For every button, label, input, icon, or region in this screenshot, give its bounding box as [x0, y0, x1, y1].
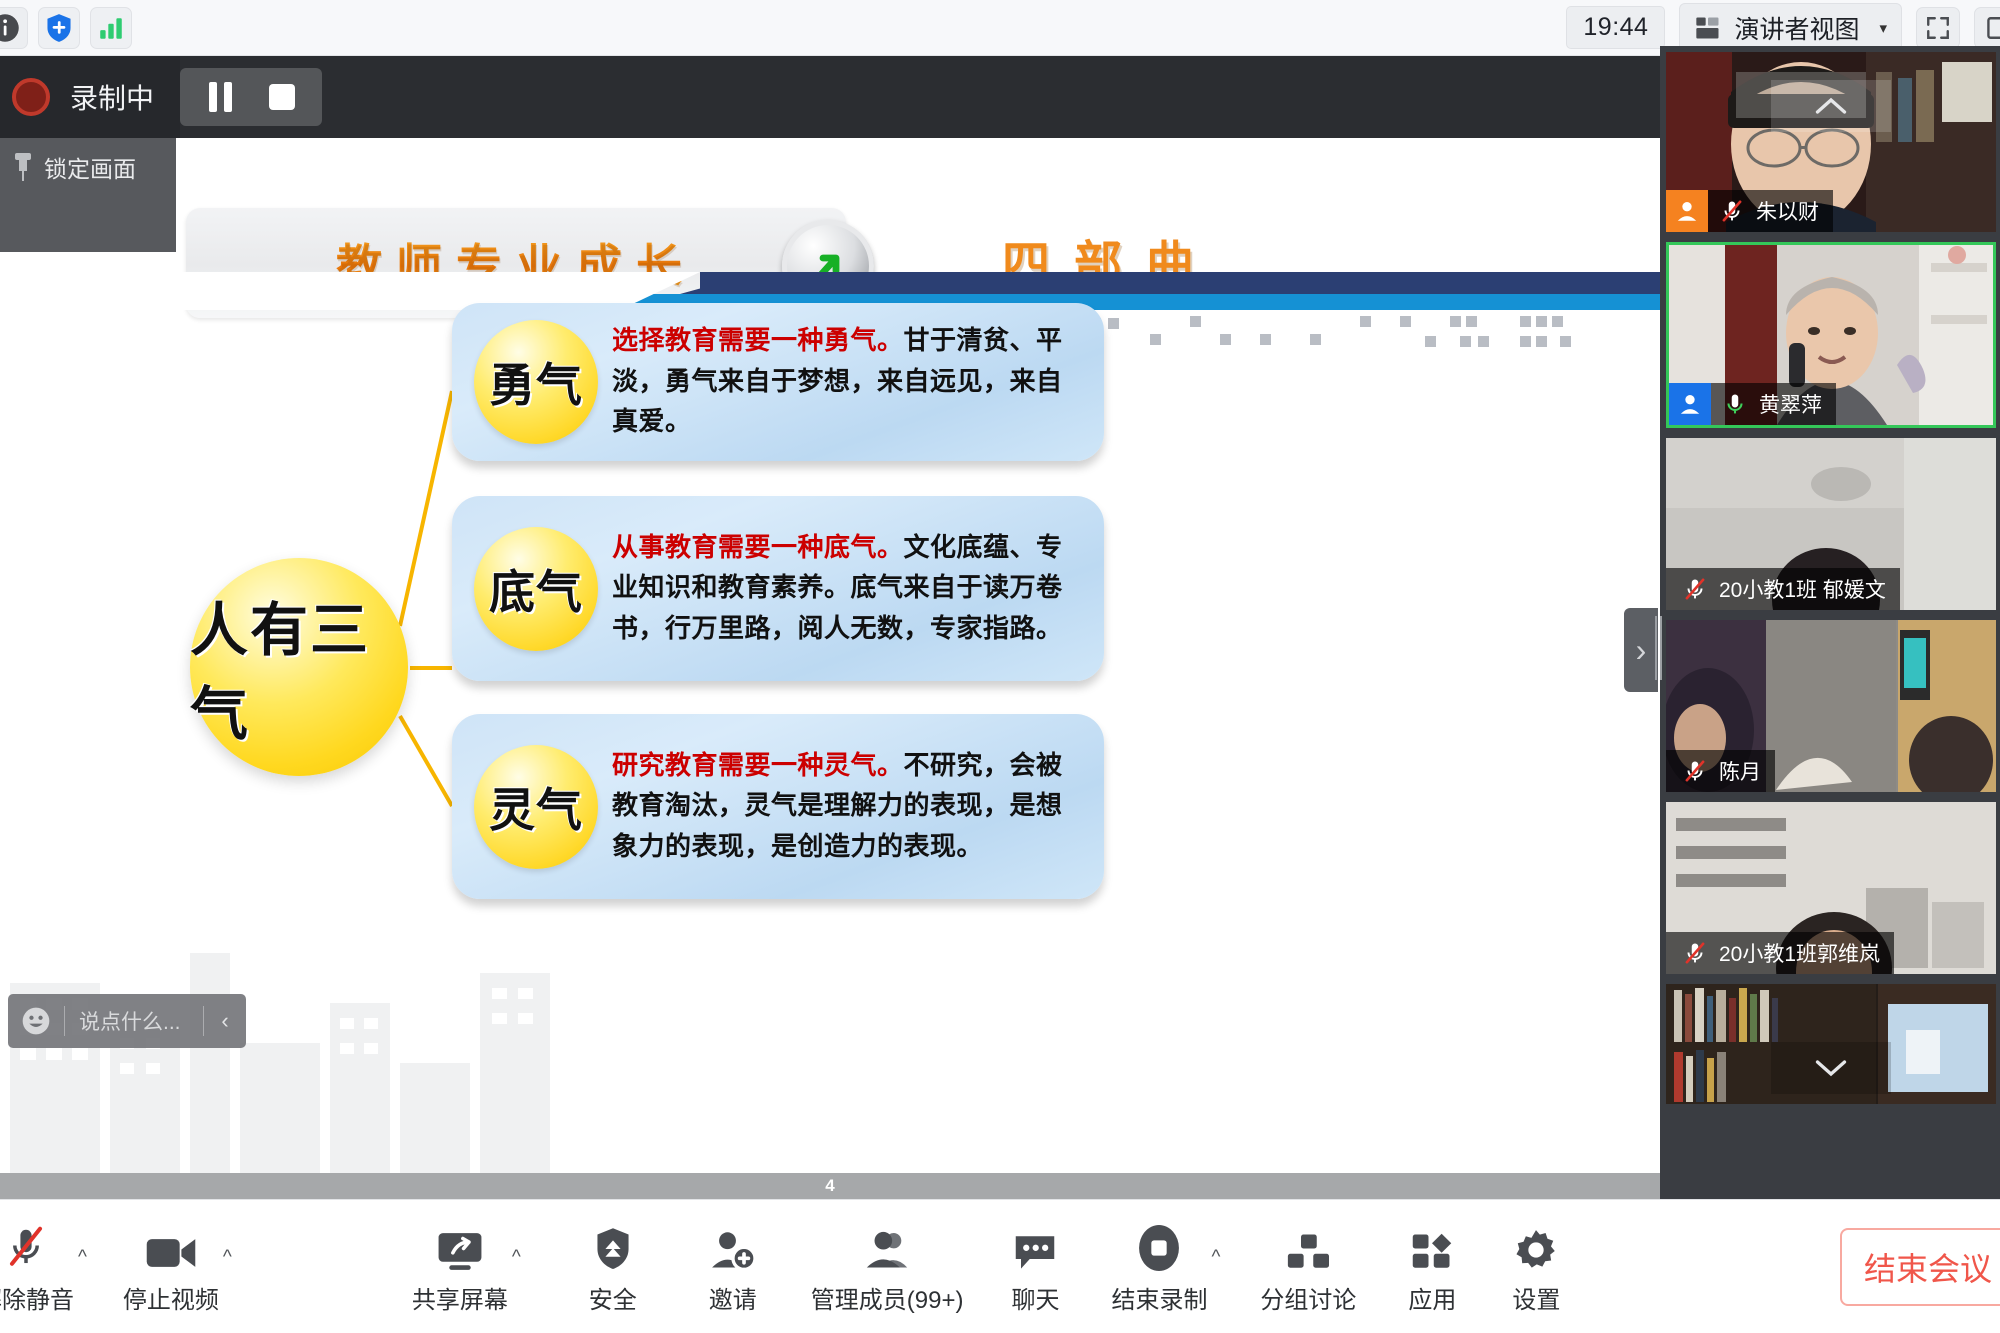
- participant-name: 20小教1班郭维岚: [1719, 938, 1880, 968]
- card-body: 研究教育需要一种灵气。不研究，会被教育淘汰，灵气是理解力的表现，是想象力的表现，…: [612, 746, 1080, 868]
- video-icon: [145, 1219, 197, 1273]
- video-options-chevron-up-icon[interactable]: ^: [223, 1247, 232, 1315]
- share-options-chevron-up-icon[interactable]: ^: [512, 1247, 521, 1315]
- core-circle-label: 人有三气: [190, 583, 408, 751]
- person-icon: [1674, 198, 1700, 224]
- core-circle: 人有三气: [190, 558, 408, 776]
- window-icon: [1983, 15, 2000, 41]
- chevron-down-icon: ▾: [1879, 19, 1887, 37]
- toolbar-label: 分组讨论: [1260, 1280, 1356, 1315]
- participant-tile[interactable]: 朱以财: [1666, 52, 1996, 232]
- toolbar-item-breakout[interactable]: 分组讨论: [1260, 1219, 1356, 1315]
- toolbar-item-chat[interactable]: 聊天: [1005, 1219, 1065, 1315]
- navy-band-right: [700, 272, 1660, 294]
- person-icon: [1677, 391, 1703, 417]
- card-badge-label: 灵气: [489, 774, 583, 840]
- fullscreen-icon: [1925, 15, 1951, 41]
- security-glyph: [594, 1225, 632, 1273]
- signal-bars-icon[interactable]: [90, 7, 132, 49]
- participants-icon: [863, 1219, 911, 1273]
- pin-icon: [14, 153, 32, 181]
- participant-name: 陈月: [1719, 756, 1761, 786]
- chevron-right-icon: ›: [1636, 634, 1647, 666]
- panel-collapse-button[interactable]: ›: [1624, 608, 1658, 692]
- end-meeting-button[interactable]: 结束会议: [1840, 1228, 2000, 1306]
- toolbar-item-apps[interactable]: 应用: [1402, 1219, 1462, 1315]
- card-badge: 灵气: [474, 745, 598, 869]
- invite-icon: [709, 1219, 757, 1273]
- lock-screen-label: 锁定画面: [44, 150, 136, 184]
- shared-slide: 教师专业成长 四部曲 人有三气: [0, 196, 1660, 1199]
- stop-icon: [269, 84, 295, 110]
- mic-muted-icon: [5, 1219, 47, 1273]
- slide-page-bar: 4: [0, 1173, 1660, 1199]
- participant-tile-partial[interactable]: [1666, 984, 1996, 1104]
- mic-muted-icon: [1680, 576, 1710, 602]
- toolbar-label: 邀请: [709, 1280, 757, 1315]
- stop-record-icon: [1136, 1219, 1182, 1273]
- toolbar-label: 安全: [589, 1280, 637, 1315]
- mic-active-glyph: [1722, 391, 1748, 417]
- content-card: 勇气 选择教育需要一种勇气。甘于清贫、平淡，勇气来自于梦想，来自远见，来自真爱。: [452, 303, 1104, 461]
- participant-name-badge: 20小教1班 郁媛文: [1666, 568, 1900, 610]
- toolbar-label: 应用: [1408, 1280, 1456, 1315]
- mic-muted-glyph: [1682, 758, 1708, 784]
- stop-recording-button[interactable]: [256, 68, 308, 126]
- view-mode-selector[interactable]: 演讲者视图 ▾: [1679, 3, 1902, 53]
- toolbar-item-settings[interactable]: 设置: [1506, 1219, 1566, 1315]
- toolbar-group-video: 停止视频 ^: [123, 1219, 232, 1315]
- pause-recording-button[interactable]: [194, 68, 246, 126]
- fullscreen-button[interactable]: [1916, 7, 1960, 49]
- toolbar-label: 停止视频: [123, 1280, 219, 1315]
- toolbar-item-invite[interactable]: 邀请: [703, 1219, 763, 1315]
- topbar-right-group: 19:44 演讲者视图 ▾: [1566, 3, 2000, 53]
- participant-name-badge: 朱以财: [1666, 190, 1833, 232]
- meeting-toolbar: 解除静音 ^ 停止视频 ^: [0, 1199, 2000, 1333]
- apps-icon: [1409, 1219, 1455, 1273]
- chat-input-bar[interactable]: 说点什么... ‹: [8, 994, 246, 1048]
- window-button[interactable]: [1974, 7, 2000, 49]
- lock-screen-button[interactable]: 锁定画面: [0, 138, 176, 196]
- toolbar-label: 共享屏幕: [412, 1280, 508, 1315]
- apps-glyph: [1409, 1231, 1455, 1273]
- clock-display: 19:44: [1566, 6, 1665, 49]
- chat-glyph: [1012, 1231, 1058, 1273]
- toolbar-item-security[interactable]: 安全: [583, 1219, 643, 1315]
- info-icon[interactable]: [0, 7, 28, 49]
- security-icon: [594, 1219, 632, 1273]
- toolbar-group-mute: 解除静音 ^: [0, 1219, 87, 1315]
- toolbar-item-stop-record[interactable]: 结束录制: [1111, 1219, 1207, 1315]
- settings-gear-glyph: [1513, 1227, 1559, 1273]
- mute-options-chevron-up-icon[interactable]: ^: [78, 1247, 87, 1315]
- invite-glyph: [709, 1229, 757, 1273]
- card-badge: 勇气: [474, 320, 598, 444]
- toolbar-label: 解除静音: [0, 1280, 74, 1315]
- participant-name: 黄翠萍: [1759, 389, 1822, 419]
- card-badge-label: 勇气: [489, 349, 583, 415]
- participant-name-badge: 黄翠萍: [1669, 383, 1836, 425]
- recording-status: 录制中: [0, 56, 180, 138]
- toolbar-item-stop-video[interactable]: 停止视频: [123, 1219, 219, 1315]
- card-body: 从事教育需要一种底气。文化底蕴、专业知识和教育素养。底气来自于读万卷书，行万里路…: [612, 528, 1080, 650]
- recording-controls: [180, 68, 322, 126]
- participant-tile[interactable]: 20小教1班 郁媛文: [1666, 438, 1996, 610]
- pause-icon: [209, 82, 232, 112]
- avatar: [1669, 383, 1711, 425]
- smiley-glyph: [20, 1005, 52, 1037]
- participant-tile[interactable]: 20小教1班郭维岚: [1666, 802, 1996, 974]
- settings-gear-icon: [1513, 1219, 1559, 1273]
- breakout-glyph: [1285, 1231, 1331, 1273]
- panel-drag-handle[interactable]: [1655, 608, 1665, 688]
- mic-muted-glyph: [1719, 198, 1745, 224]
- shield-plus-glyph: [45, 13, 73, 43]
- card-badge-label: 底气: [489, 556, 583, 622]
- page-number: 4: [825, 1176, 834, 1196]
- chat-collapse-icon[interactable]: ‹: [204, 1008, 246, 1034]
- toolbar-label: 聊天: [1011, 1280, 1059, 1315]
- mic-muted-icon: [1717, 198, 1747, 224]
- recording-status-label: 录制中: [70, 77, 154, 117]
- presenter-view-icon: [1694, 14, 1722, 42]
- toolbar-label: 设置: [1512, 1280, 1560, 1315]
- chevron-up-icon: [1813, 95, 1849, 117]
- toolbar-item-participants[interactable]: 管理成员(99+): [811, 1219, 964, 1315]
- slide-corner-mask: [0, 196, 176, 252]
- view-mode-label: 演讲者视图: [1734, 10, 1859, 46]
- scroll-up-button[interactable]: [1771, 80, 1891, 132]
- scroll-down-button[interactable]: [1771, 1042, 1891, 1094]
- participant-tile[interactable]: 黄翠萍: [1666, 242, 1996, 428]
- share-screen-icon: [435, 1219, 485, 1273]
- card-highlight-text: 选择教育需要一种勇气。: [612, 326, 904, 356]
- smiley-icon[interactable]: [8, 1005, 64, 1037]
- mic-muted-glyph: [1682, 576, 1708, 602]
- participant-name-badge: 20小教1班郭维岚: [1666, 932, 1894, 974]
- toolbar-group-share: 共享屏幕 ^: [412, 1219, 521, 1315]
- mic-active-icon: [1720, 391, 1750, 417]
- recording-dot-icon: [12, 78, 50, 116]
- avatar: [1666, 190, 1708, 232]
- toolbar-label: 结束录制: [1111, 1280, 1207, 1315]
- participants-glyph: [863, 1229, 911, 1273]
- mic-muted-icon: [1680, 940, 1710, 966]
- card-badge: 底气: [474, 527, 598, 651]
- record-options-chevron-up-icon[interactable]: ^: [1211, 1247, 1220, 1315]
- toolbar-item-share-screen[interactable]: 共享屏幕: [412, 1219, 508, 1315]
- content-card: 灵气 研究教育需要一种灵气。不研究，会被教育淘汰，灵气是理解力的表现，是想象力的…: [452, 714, 1104, 899]
- chat-icon: [1012, 1219, 1058, 1273]
- mic-muted-glyph: [1682, 940, 1708, 966]
- share-screen-glyph: [435, 1229, 485, 1273]
- participant-name-badge: 陈月: [1666, 750, 1775, 792]
- info-icon-glyph: [0, 13, 20, 43]
- stop-record-glyph: [1136, 1223, 1182, 1273]
- breakout-icon: [1285, 1219, 1331, 1273]
- chat-input-placeholder[interactable]: 说点什么...: [65, 1006, 203, 1036]
- card-highlight-text: 从事教育需要一种底气。: [612, 533, 904, 563]
- card-highlight-text: 研究教育需要一种灵气。: [612, 751, 904, 781]
- toolbar-label: 管理成员(99+): [811, 1280, 964, 1315]
- mic-muted-glyph: [5, 1223, 47, 1273]
- content-card: 底气 从事教育需要一种底气。文化底蕴、专业知识和教育素养。底气来自于读万卷书，行…: [452, 496, 1104, 681]
- chevron-down-icon: [1813, 1057, 1849, 1079]
- recording-bar: 录制中: [0, 56, 1660, 138]
- participant-tile[interactable]: 陈月: [1666, 620, 1996, 792]
- signal-bars-glyph: [97, 15, 125, 41]
- mic-muted-icon: [1680, 758, 1710, 784]
- topbar-icon-group: [0, 7, 132, 49]
- video-glyph: [145, 1233, 197, 1273]
- participant-video-panel: 朱以财: [1660, 46, 2000, 1199]
- participant-name: 朱以财: [1756, 196, 1819, 226]
- participant-name: 20小教1班 郁媛文: [1719, 574, 1886, 604]
- toolbar-group-record: 结束录制 ^: [1111, 1219, 1220, 1315]
- toolbar-item-unmute[interactable]: 解除静音: [0, 1219, 74, 1315]
- card-body: 选择教育需要一种勇气。甘于清贫、平淡，勇气来自于梦想，来自远见，来自真爱。: [612, 321, 1080, 443]
- shield-plus-icon[interactable]: [38, 7, 80, 49]
